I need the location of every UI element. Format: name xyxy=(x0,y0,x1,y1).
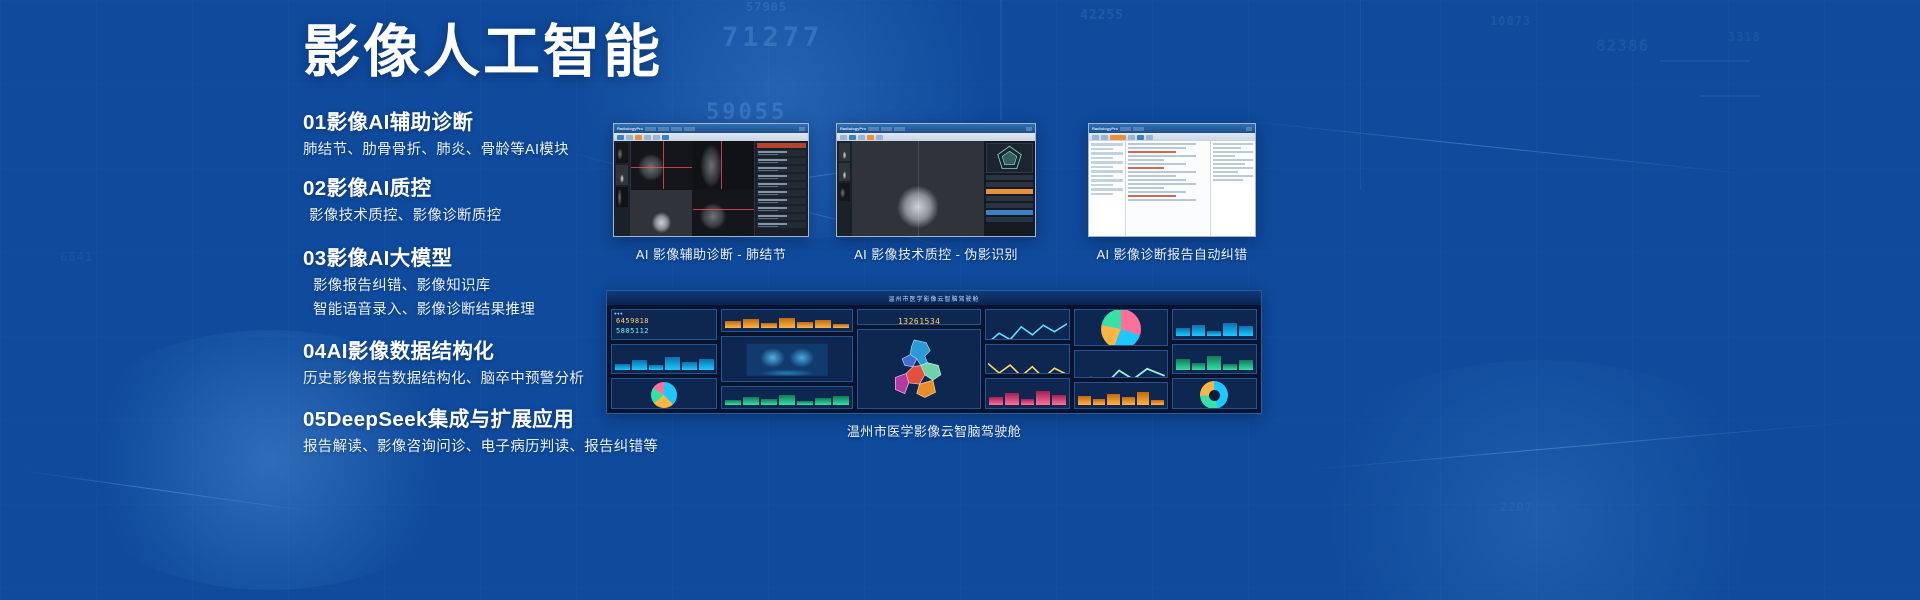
screenshot-caption: AI 影像技术质控 - 伪影识别 xyxy=(836,244,1036,263)
suggestion-line xyxy=(1213,171,1238,173)
tool-button[interactable] xyxy=(644,135,651,140)
report-text-panel[interactable] xyxy=(1126,141,1211,237)
tool-button[interactable] xyxy=(626,135,633,140)
card-bar-small-1[interactable] xyxy=(611,344,717,375)
qc-row[interactable] xyxy=(986,182,1033,187)
app-titlebar: RadiologyPro xyxy=(614,124,808,133)
menu-item[interactable] xyxy=(658,127,669,131)
qc-result-panel[interactable] xyxy=(983,141,1035,237)
bar-series xyxy=(989,388,1066,405)
screenshot-ai-technical-qc[interactable]: RadiologyPro xyxy=(836,123,1036,237)
app-logo: RadiologyPro xyxy=(617,126,643,131)
menu-item[interactable] xyxy=(1120,127,1131,131)
map-graphic xyxy=(866,336,973,403)
list-item[interactable] xyxy=(1091,193,1113,196)
tool-button[interactable] xyxy=(1146,135,1153,140)
bar-series xyxy=(1176,354,1253,371)
app-titlebar: RadiologyPro xyxy=(837,124,1035,133)
screenshot-caption: AI 影像诊断报告自动纠错 xyxy=(1074,244,1270,263)
bg-line xyxy=(1300,421,1858,471)
report-line xyxy=(1128,163,1186,165)
finding-row[interactable] xyxy=(757,222,806,228)
menu-item[interactable] xyxy=(671,127,682,131)
donut-chart xyxy=(1200,381,1228,409)
finding-row[interactable] xyxy=(757,214,806,220)
screenshot-caption: AI 影像辅助诊断 - 肺结节 xyxy=(613,244,809,263)
report-line-error xyxy=(1128,167,1164,169)
close-icon[interactable] xyxy=(799,127,805,131)
card-title: ●●● xyxy=(614,311,623,316)
card-line-trend-1[interactable] xyxy=(985,309,1070,340)
report-line-error xyxy=(1128,151,1176,153)
list-item[interactable] xyxy=(1091,175,1113,178)
screenshot-report-auto-correction[interactable]: RadiologyPro xyxy=(1088,123,1256,237)
tool-button[interactable] xyxy=(1092,135,1099,140)
bg-bar xyxy=(1660,60,1750,62)
tool-button[interactable] xyxy=(662,135,669,140)
card-donut[interactable] xyxy=(1172,378,1257,409)
series-thumbnail[interactable] xyxy=(839,163,850,181)
bar-series xyxy=(725,316,849,328)
report-line xyxy=(1128,143,1197,145)
card-pie-small[interactable] xyxy=(611,378,717,409)
report-line xyxy=(1128,147,1186,149)
report-line xyxy=(1128,191,1186,193)
dashboard-column-4 xyxy=(985,309,1070,409)
suggestion-line xyxy=(1213,147,1241,149)
list-item[interactable] xyxy=(1091,161,1123,164)
list-item[interactable] xyxy=(1091,157,1113,160)
series-thumbnail[interactable] xyxy=(839,143,850,161)
qc-row-alert[interactable] xyxy=(986,189,1033,194)
findings-panel[interactable] xyxy=(754,141,808,237)
card-human-body-visual[interactable] xyxy=(721,336,853,382)
viewport-axial-lung[interactable] xyxy=(631,141,692,189)
menu-item[interactable] xyxy=(645,127,656,131)
list-item[interactable] xyxy=(1091,166,1113,169)
bg-bar xyxy=(1000,0,1002,120)
tool-button[interactable] xyxy=(1101,135,1108,140)
card-line-trend-3[interactable] xyxy=(1074,350,1168,377)
bg-glow xyxy=(1280,360,1800,600)
report-line xyxy=(1128,159,1164,161)
suggestion-line xyxy=(1213,163,1245,165)
report-line xyxy=(1128,175,1176,177)
suggestion-line xyxy=(1213,159,1253,161)
tool-button[interactable] xyxy=(617,135,624,140)
suggestion-line xyxy=(1213,167,1253,169)
finding-row[interactable] xyxy=(757,158,806,164)
tool-button[interactable] xyxy=(858,135,865,140)
series-thumbnail[interactable] xyxy=(616,165,628,185)
card-bar-small-3[interactable] xyxy=(1074,382,1168,409)
card-kpi-counts[interactable]: ●●● 6459818 5805112 xyxy=(611,309,717,340)
bg-line xyxy=(1240,120,1757,175)
image-viewer[interactable] xyxy=(614,141,808,237)
series-thumbnail[interactable] xyxy=(839,183,850,201)
dashboard-column-5 xyxy=(1074,309,1168,409)
report-line xyxy=(1128,179,1186,181)
suggestion-line xyxy=(1213,143,1253,145)
bg-number: 71277 xyxy=(722,22,823,53)
app-logo: RadiologyPro xyxy=(1092,126,1118,131)
menu-item[interactable] xyxy=(894,127,905,131)
screenshot-imaging-cloud-dashboard[interactable]: 温州市医学影像云智脑驾驶舱 ●●● 6459818 5805112 xyxy=(606,290,1262,414)
report-line-error xyxy=(1128,195,1176,197)
page-title: 影像人工智能 xyxy=(303,24,703,81)
report-workspace[interactable] xyxy=(1089,141,1255,237)
report-line xyxy=(1128,183,1197,185)
finding-row[interactable] xyxy=(757,182,806,188)
bg-number: 59055 xyxy=(706,100,787,125)
dashboard-grid: ●●● 6459818 5805112 xyxy=(607,305,1261,413)
feature-list: 影像人工智能 01影像AI辅助诊断 肺结节、肋骨骨折、肺炎、骨龄等AI模块 02… xyxy=(303,24,703,544)
series-thumbnail-panel[interactable] xyxy=(614,141,631,237)
series-thumbnail-panel[interactable] xyxy=(837,141,853,237)
menu-item[interactable] xyxy=(684,127,695,131)
app-toolbar xyxy=(837,133,1035,141)
dashboard-column-6 xyxy=(1172,309,1257,409)
bg-bar xyxy=(1360,0,1361,190)
viewport-grid[interactable] xyxy=(631,141,754,237)
bg-number: 42255 xyxy=(1080,8,1124,23)
app-toolbar xyxy=(614,133,808,141)
pie-chart xyxy=(1101,309,1141,346)
report-line xyxy=(1128,171,1197,173)
bar-series xyxy=(1176,319,1253,336)
series-thumbnail[interactable] xyxy=(616,143,628,163)
card-pie-large[interactable] xyxy=(1074,309,1168,346)
patient-list-panel[interactable] xyxy=(1089,141,1126,237)
tool-button[interactable] xyxy=(849,135,856,140)
viewport-coronal[interactable] xyxy=(693,141,754,189)
viewport-main-axial[interactable] xyxy=(853,141,983,237)
line-chart xyxy=(988,319,1067,340)
card-center-kpi[interactable]: 13261534 xyxy=(857,309,981,325)
tool-button[interactable] xyxy=(876,135,883,140)
card-bar-group-1[interactable] xyxy=(721,309,853,332)
suggestion-line xyxy=(1213,175,1253,177)
bar-series xyxy=(615,354,713,371)
kpi-value-2: 5805112 xyxy=(616,327,649,335)
dashboard-title: 温州市医学影像云智脑驾驶舱 xyxy=(607,291,1261,305)
bar-series xyxy=(725,393,849,405)
report-line xyxy=(1128,199,1197,201)
card-region-map[interactable] xyxy=(857,329,981,409)
bg-number: 2207 xyxy=(1500,500,1533,514)
finding-row[interactable] xyxy=(757,198,806,204)
image-viewer[interactable] xyxy=(837,141,1035,237)
list-item[interactable] xyxy=(1091,170,1123,173)
card-bar-small-5[interactable] xyxy=(1172,344,1257,375)
finding-row[interactable] xyxy=(757,166,806,172)
list-item[interactable] xyxy=(1091,143,1123,146)
bg-number: 57905 xyxy=(746,0,787,14)
tool-button[interactable] xyxy=(635,135,642,140)
card-line-trend-2[interactable] xyxy=(985,344,1070,375)
qc-row[interactable] xyxy=(986,217,1033,222)
bg-line xyxy=(20,470,317,513)
close-icon[interactable] xyxy=(1026,127,1032,131)
kpi-center-value: 13261534 xyxy=(898,317,941,325)
card-bar-small-2[interactable] xyxy=(985,378,1070,409)
menu-item[interactable] xyxy=(1133,127,1144,131)
suggestion-line xyxy=(1213,151,1253,153)
qc-row[interactable] xyxy=(986,175,1033,180)
viewport-axial-zoom[interactable] xyxy=(693,190,754,237)
correction-suggestion-panel[interactable] xyxy=(1210,141,1255,237)
tool-button[interactable] xyxy=(867,135,874,140)
series-thumbnail[interactable] xyxy=(616,187,628,207)
suggestion-line xyxy=(1213,179,1243,181)
tool-button[interactable] xyxy=(1137,135,1144,140)
finding-row[interactable] xyxy=(757,206,806,212)
list-item[interactable] xyxy=(1091,188,1123,191)
list-item[interactable] xyxy=(1091,148,1113,151)
list-item[interactable] xyxy=(1091,179,1123,182)
bg-number: 82386 xyxy=(1596,36,1649,55)
line-chart xyxy=(1077,360,1165,377)
line-chart xyxy=(988,354,1067,375)
app-logo: RadiologyPro xyxy=(840,126,866,131)
suggestion-line xyxy=(1213,155,1235,157)
list-item[interactable] xyxy=(1091,152,1123,155)
app-toolbar xyxy=(1089,133,1255,141)
bg-bar xyxy=(1700,95,1760,97)
viewport-axial-mediastinum[interactable] xyxy=(631,190,692,237)
menu-item[interactable] xyxy=(868,127,879,131)
qc-row[interactable] xyxy=(986,203,1033,208)
dashboard-column-2 xyxy=(721,309,853,409)
dashboard-caption: 温州市医学影像云智脑驾驶舱 xyxy=(606,421,1262,440)
finding-row[interactable] xyxy=(757,190,806,196)
pie-chart xyxy=(651,382,677,408)
card-bar-small-4[interactable] xyxy=(1172,309,1257,340)
close-icon[interactable] xyxy=(1246,127,1252,131)
qc-row[interactable] xyxy=(986,196,1033,201)
bg-number: 3318 xyxy=(1728,30,1761,44)
bg-number: 10073 xyxy=(1490,14,1531,28)
kpi-value-1: 6459818 xyxy=(616,317,649,325)
report-line xyxy=(1128,187,1164,189)
artifact-radar-chart xyxy=(986,143,1033,173)
tool-button[interactable] xyxy=(840,135,847,140)
bar-series xyxy=(1078,390,1164,405)
screenshot-ai-assisted-diagnosis[interactable]: RadiologyPro xyxy=(613,123,809,237)
list-item[interactable] xyxy=(1091,184,1113,187)
report-line xyxy=(1128,155,1197,157)
card-bar-group-2[interactable] xyxy=(721,386,853,409)
tool-button-highlight[interactable] xyxy=(1110,135,1126,140)
menu-item[interactable] xyxy=(881,127,892,131)
finding-row[interactable] xyxy=(757,150,806,156)
findings-header xyxy=(757,143,806,148)
finding-row[interactable] xyxy=(757,174,806,180)
dashboard-column-3: 13261534 xyxy=(857,309,981,409)
tool-button[interactable] xyxy=(1128,135,1135,140)
bg-number: 6641 xyxy=(60,250,93,264)
tool-button[interactable] xyxy=(653,135,660,140)
human-anatomy-graphic xyxy=(747,344,828,377)
dashboard-column-1: ●●● 6459818 5805112 xyxy=(611,309,717,409)
qc-row-selected[interactable] xyxy=(986,210,1033,215)
app-titlebar: RadiologyPro xyxy=(1089,124,1255,133)
